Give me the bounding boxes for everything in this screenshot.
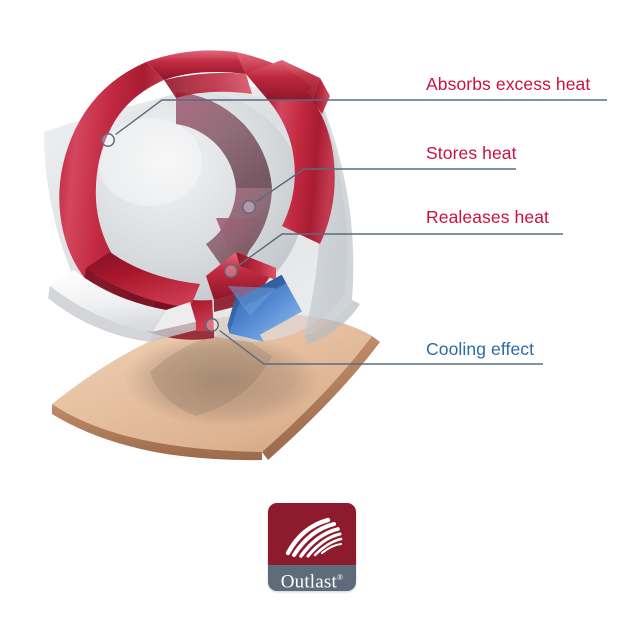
anchor-point-releases	[225, 265, 237, 277]
callout-label-absorbs: Absorbs excess heat	[426, 76, 590, 94]
anchor-point-stores	[243, 201, 255, 213]
logo-wordmark-text: Outlast	[281, 571, 337, 591]
callout-label-cooling: Cooling effect	[426, 341, 534, 359]
registered-trademark-icon: ®	[337, 573, 343, 582]
logo-wordmark: Outlast®	[268, 566, 356, 591]
anchor-point-absorbs	[102, 134, 114, 146]
callout-label-releases: Realeases heat	[426, 209, 549, 227]
logo-swoosh-icon	[268, 503, 356, 565]
callout-label-stores: Stores heat	[426, 145, 517, 163]
anchor-point-cooling	[206, 319, 218, 331]
diagram-canvas: Absorbs excess heat Stores heat Realease…	[0, 0, 625, 625]
outlast-logo: Outlast®	[268, 503, 356, 591]
